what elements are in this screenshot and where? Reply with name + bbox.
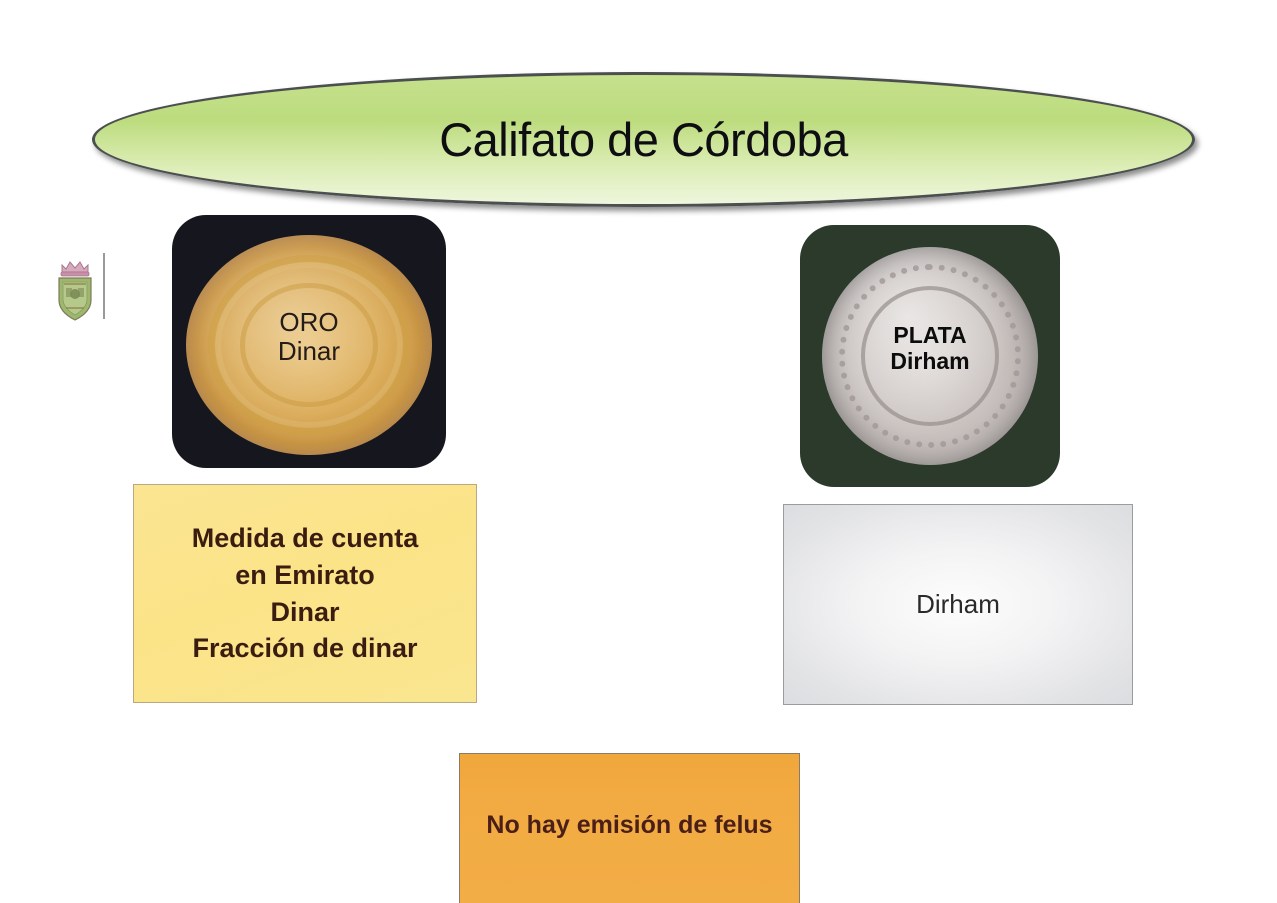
yellow-box-line-4: Fracción de dinar	[192, 630, 417, 667]
slide-title-ellipse: Califato de Córdoba	[92, 72, 1195, 207]
gold-coin-caption: ORO Dinar	[172, 308, 446, 366]
yellow-box-line-2: en Emirato	[235, 557, 375, 594]
heraldic-shield-crest-icon	[52, 252, 98, 324]
orange-box-label: No hay emisión de felus	[486, 811, 772, 840]
silver-metal-label: PLATA	[800, 323, 1060, 349]
crest-divider-rule	[103, 253, 105, 319]
gold-metal-label: ORO	[172, 308, 446, 337]
yellow-box-line-3: Dinar	[270, 594, 339, 631]
gold-denomination-label: Dinar	[172, 337, 446, 366]
orange-info-box: No hay emisión de felus	[459, 753, 800, 903]
gray-box-label: Dirham	[916, 589, 1000, 620]
silver-coin-caption: PLATA Dirham	[800, 323, 1060, 375]
yellow-info-box: Medida de cuenta en Emirato Dinar Fracci…	[133, 484, 477, 703]
gray-info-box: Dirham	[783, 504, 1133, 705]
yellow-box-line-1: Medida de cuenta	[192, 520, 419, 557]
page-title: Califato de Córdoba	[439, 116, 848, 163]
silver-denomination-label: Dirham	[800, 349, 1060, 375]
silver-coin-photo: PLATA Dirham	[800, 225, 1060, 487]
gold-coin-photo: ORO Dinar	[172, 215, 446, 468]
